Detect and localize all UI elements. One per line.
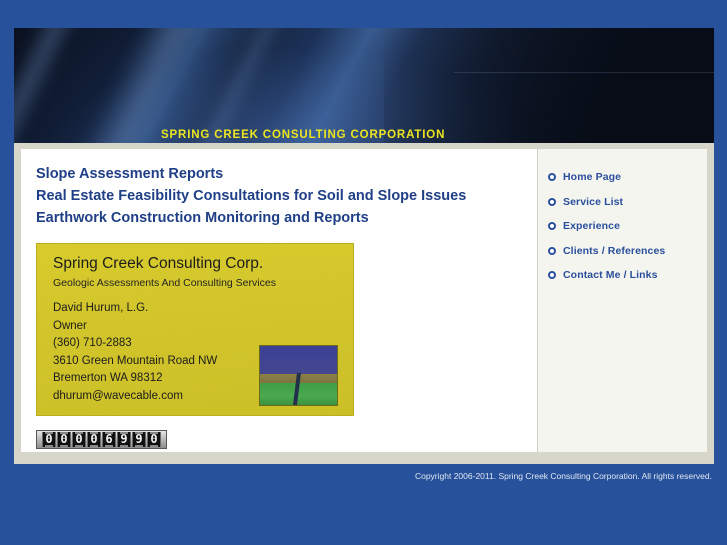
card-contact-street: 3610 Green Mountain Road NW [53,353,217,371]
headline-1: Slope Assessment Reports [36,163,536,185]
counter-digit: 9 [117,432,131,447]
circle-bullet-icon [548,222,556,230]
logo-sky [260,346,337,374]
banner-dark-overlay [384,28,714,143]
business-card: Spring Creek Consulting Corp. Geologic A… [36,243,354,416]
circle-bullet-icon [548,247,556,255]
sidebar-panel: Home Page Service List Experience Client… [537,149,707,452]
circle-bullet-icon [548,173,556,181]
content-panel: Slope Assessment Reports Real Estate Fea… [21,149,707,452]
circle-bullet-icon [548,271,556,279]
sidebar-item-label: Contact Me / Links [563,269,658,281]
counter-digit: 0 [72,432,86,447]
card-contact-email: dhurum@wavecable.com [53,388,217,406]
counter-digit: 0 [147,432,161,447]
counter-digit: 6 [102,432,116,447]
sidebar-item-experience[interactable]: Experience [548,214,706,239]
header-banner: SPRING CREEK CONSULTING CORPORATION [14,28,714,143]
card-tagline: Geologic Assessments And Consulting Serv… [53,277,276,289]
card-contact-name: David Hurum, L.G. [53,300,217,318]
page-root: SPRING CREEK CONSULTING CORPORATION Slop… [0,0,727,545]
counter-digit: 0 [42,432,56,447]
card-contact-details: David Hurum, L.G. Owner (360) 710-2883 3… [53,300,217,405]
card-contact-phone: (360) 710-2883 [53,335,217,353]
sidebar-item-label: Service List [563,196,623,208]
headline-2: Real Estate Feasibility Consultations fo… [36,185,536,207]
sidebar-item-label: Home Page [563,171,621,183]
sidebar-item-contact-me-links[interactable]: Contact Me / Links [548,263,706,288]
sidebar-item-label: Experience [563,220,620,232]
sidebar-item-label: Clients / References [563,245,665,257]
copyright-text: Copyright 2006-2011. Spring Creek Consul… [415,471,712,481]
headline-block: Slope Assessment Reports Real Estate Fea… [36,163,536,229]
sidebar-item-clients-references[interactable]: Clients / References [548,239,706,264]
counter-digit: 9 [132,432,146,447]
nav-menu: Home Page Service List Experience Client… [548,165,706,288]
hit-counter: 0 0 0 0 6 9 9 0 [36,430,167,449]
counter-digit: 0 [87,432,101,447]
content-frame: Slope Assessment Reports Real Estate Fea… [14,143,714,464]
site-title: SPRING CREEK CONSULTING CORPORATION [161,129,445,141]
company-logo-icon [259,345,338,406]
footer-bar: Copyright 2006-2011. Spring Creek Consul… [14,464,714,492]
circle-bullet-icon [548,198,556,206]
card-contact-city: Bremerton WA 98312 [53,370,217,388]
card-contact-role: Owner [53,318,217,336]
counter-digit: 0 [57,432,71,447]
sidebar-item-home-page[interactable]: Home Page [548,165,706,190]
headline-3: Earthwork Construction Monitoring and Re… [36,207,536,229]
banner-horizon-line [454,72,714,73]
sidebar-item-service-list[interactable]: Service List [548,190,706,215]
card-company-name: Spring Creek Consulting Corp. [53,255,263,273]
